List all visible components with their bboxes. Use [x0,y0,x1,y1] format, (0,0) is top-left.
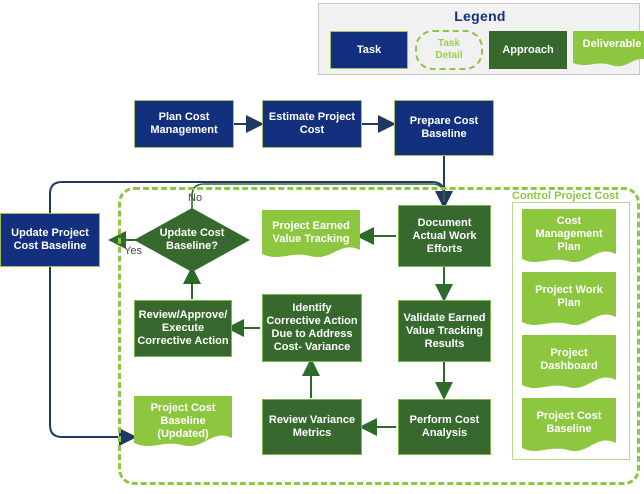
legend-item-approach: Approach [489,31,567,69]
project-cost-baseline-line1: Project Cost [522,410,616,423]
node-project-earned-value-tracking[interactable]: Project Earned Value Tracking [262,210,360,262]
node-plan-cost-management[interactable]: Plan Cost Management [134,100,234,148]
prepare-cost-baseline-line2: Baseline [410,128,478,141]
legend-task-label: Task [357,44,381,56]
legend-item-deliverable: Deliverable [573,31,644,69]
node-review-approve-execute-corrective-action[interactable]: Review/Approve/ Execute Corrective Actio… [134,300,232,357]
update-cost-baseline-decision-line2: Baseline? [160,240,225,253]
node-validate-earned-value-tracking-results[interactable]: Validate Earned Value Tracking Results [398,300,491,362]
prepare-cost-baseline-line1: Prepare Cost [410,115,478,128]
review-approve-execute-line1: Review/Approve/ [137,309,228,322]
cost-management-plan-line1: Cost [522,215,616,228]
legend-panel: Legend Task Task Detail Approach Deliver… [318,3,640,75]
project-work-plan-line2: Plan [522,297,616,310]
deliverable-project-work-plan[interactable]: Project Work Plan [522,272,616,330]
project-cost-baseline-line2: Baseline [522,423,616,436]
node-document-actual-work-efforts[interactable]: Document Actual Work Efforts [398,205,491,267]
identify-corrective-action-line4: Cost- Variance [266,341,357,354]
node-identify-corrective-action[interactable]: Identify Corrective Action Due to Addres… [262,294,362,362]
plan-cost-management-line2: Management [150,124,217,137]
legend-task-detail-label-line2: Detail [435,50,462,62]
legend-item-task: Task [330,31,408,69]
legend-approach-label: Approach [502,44,553,56]
legend-deliverable-label: Deliverable [573,38,644,50]
deliverable-project-cost-baseline[interactable]: Project Cost Baseline [522,398,616,456]
project-cost-baseline-updated-line1: Project Cost [134,402,232,415]
document-actual-work-efforts-line3: Efforts [413,243,477,256]
node-update-cost-baseline-decision[interactable]: Update Cost Baseline? [134,208,250,272]
edge-label-yes: Yes [124,245,142,257]
cost-management-plan-line3: Plan [522,241,616,254]
node-review-variance-metrics[interactable]: Review Variance Metrics [262,399,362,455]
update-project-cost-baseline-line1: Update Project [11,227,89,240]
review-approve-execute-line2: Execute [137,322,228,335]
project-dashboard-line1: Project [522,347,616,360]
identify-corrective-action-line3: Due to Address [266,328,357,341]
project-cost-baseline-updated-line3: (Updated) [134,428,232,441]
review-approve-execute-line3: Corrective Action [137,335,228,348]
deliverable-project-dashboard[interactable]: Project Dashboard [522,335,616,393]
node-prepare-cost-baseline[interactable]: Prepare Cost Baseline [394,100,494,156]
legend-task-detail-label-line1: Task [435,38,462,50]
identify-corrective-action-line2: Corrective Action [266,315,357,328]
project-dashboard-line2: Dashboard [522,360,616,373]
legend-title: Legend [319,8,641,24]
node-update-project-cost-baseline[interactable]: Update Project Cost Baseline [0,213,100,267]
node-project-cost-baseline-updated[interactable]: Project Cost Baseline (Updated) [134,396,232,451]
validate-earned-value-line3: Results [404,338,486,351]
edge-label-no: No [188,192,202,204]
perform-cost-analysis-line2: Analysis [410,427,480,440]
validate-earned-value-line1: Validate Earned [404,312,486,325]
review-variance-metrics-line2: Metrics [269,427,355,440]
project-earned-value-tracking-line1: Project Earned [262,220,360,233]
review-variance-metrics-line1: Review Variance [269,414,355,427]
cost-management-plan-line2: Management [522,228,616,241]
identify-corrective-action-line1: Identify [266,302,357,315]
document-actual-work-efforts-line2: Actual Work [413,230,477,243]
diagram-canvas: Control Project Cost Legend Task Task De… [0,0,644,494]
legend-item-task-detail: Task Detail [415,30,483,70]
validate-earned-value-line2: Value Tracking [404,325,486,338]
perform-cost-analysis-line1: Perform Cost [410,414,480,427]
node-perform-cost-analysis[interactable]: Perform Cost Analysis [398,399,491,455]
project-work-plan-line1: Project Work [522,284,616,297]
project-cost-baseline-updated-line2: Baseline [134,415,232,428]
deliverable-cost-management-plan[interactable]: Cost Management Plan [522,209,616,267]
document-actual-work-efforts-line1: Document [413,217,477,230]
node-estimate-project-cost[interactable]: Estimate Project Cost [262,100,362,148]
plan-cost-management-line1: Plan Cost [150,111,217,124]
control-panel-title: Control Project Cost [512,190,644,202]
estimate-project-cost-line1: Estimate Project [269,111,355,124]
update-project-cost-baseline-line2: Cost Baseline [11,240,89,253]
estimate-project-cost-line2: Cost [269,124,355,137]
project-earned-value-tracking-line2: Value Tracking [262,233,360,246]
update-cost-baseline-decision-line1: Update Cost [160,227,225,240]
